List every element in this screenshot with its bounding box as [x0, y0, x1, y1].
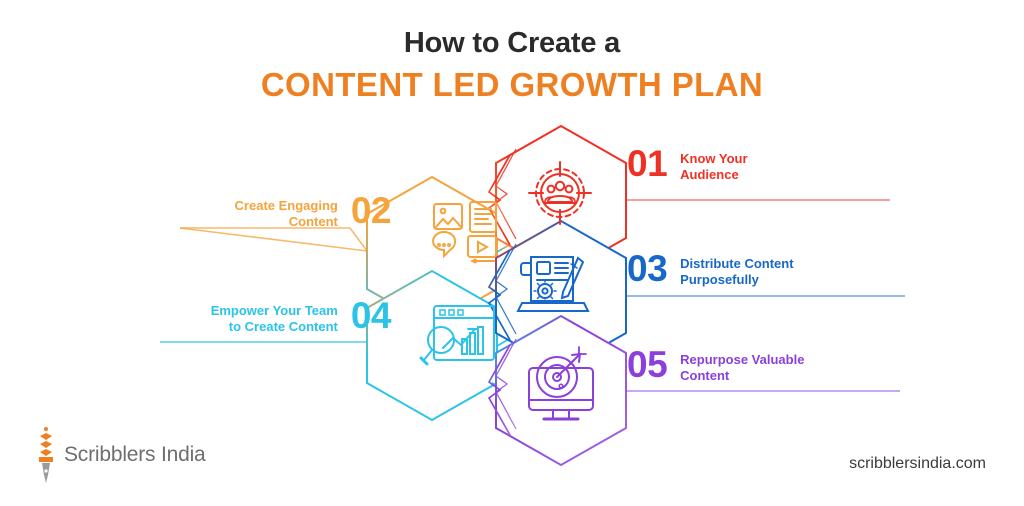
step-text-04-line2: to Create Content: [211, 319, 338, 335]
step-text-01-line1: Know Your: [680, 151, 747, 167]
brand-logo[interactable]: Scribblers India: [33, 426, 206, 484]
step-text-02: Create Engaging Content: [235, 193, 338, 231]
brand-logo-text: Scribblers India: [64, 443, 206, 467]
step-text-03: Distribute Content Purposefully: [680, 251, 793, 289]
step-text-05: Repurpose Valuable Content: [680, 347, 804, 385]
step-text-04-line1: Empower Your Team: [211, 303, 338, 319]
step-text-04: Empower Your Team to Create Content: [211, 298, 338, 336]
step-text-02-line1: Create Engaging: [235, 198, 338, 214]
step-number-04: 04: [351, 298, 391, 333]
step-text-02-line2: Content: [235, 214, 338, 230]
step-number-03: 03: [627, 251, 667, 286]
step-label-02[interactable]: Create Engaging Content 02: [235, 193, 391, 231]
step-text-03-line1: Distribute Content: [680, 256, 793, 272]
site-url[interactable]: scribblersindia.com: [849, 455, 986, 473]
step-label-05[interactable]: 05 Repurpose Valuable Content: [627, 347, 804, 385]
step-number-02: 02: [351, 193, 391, 228]
step-label-04[interactable]: Empower Your Team to Create Content 04: [211, 298, 391, 336]
step-number-05: 05: [627, 347, 667, 382]
step-label-01[interactable]: 01 Know Your Audience: [627, 146, 748, 184]
step-text-05-line2: Content: [680, 368, 804, 384]
step-text-03-line2: Purposefully: [680, 272, 793, 288]
step-label-03[interactable]: 03 Distribute Content Purposefully: [627, 251, 794, 289]
infographic-canvas: How to Create a CONTENT LED GROWTH PLAN: [0, 0, 1024, 506]
connector-line-02: [180, 228, 367, 251]
step-text-05-line1: Repurpose Valuable: [680, 352, 804, 368]
connector-elbow-02: [350, 228, 367, 251]
step-text-01-line2: Audience: [680, 167, 747, 183]
step-text-01: Know Your Audience: [680, 146, 747, 184]
step-number-01: 01: [627, 146, 667, 181]
quill-nib-icon: [33, 426, 59, 484]
